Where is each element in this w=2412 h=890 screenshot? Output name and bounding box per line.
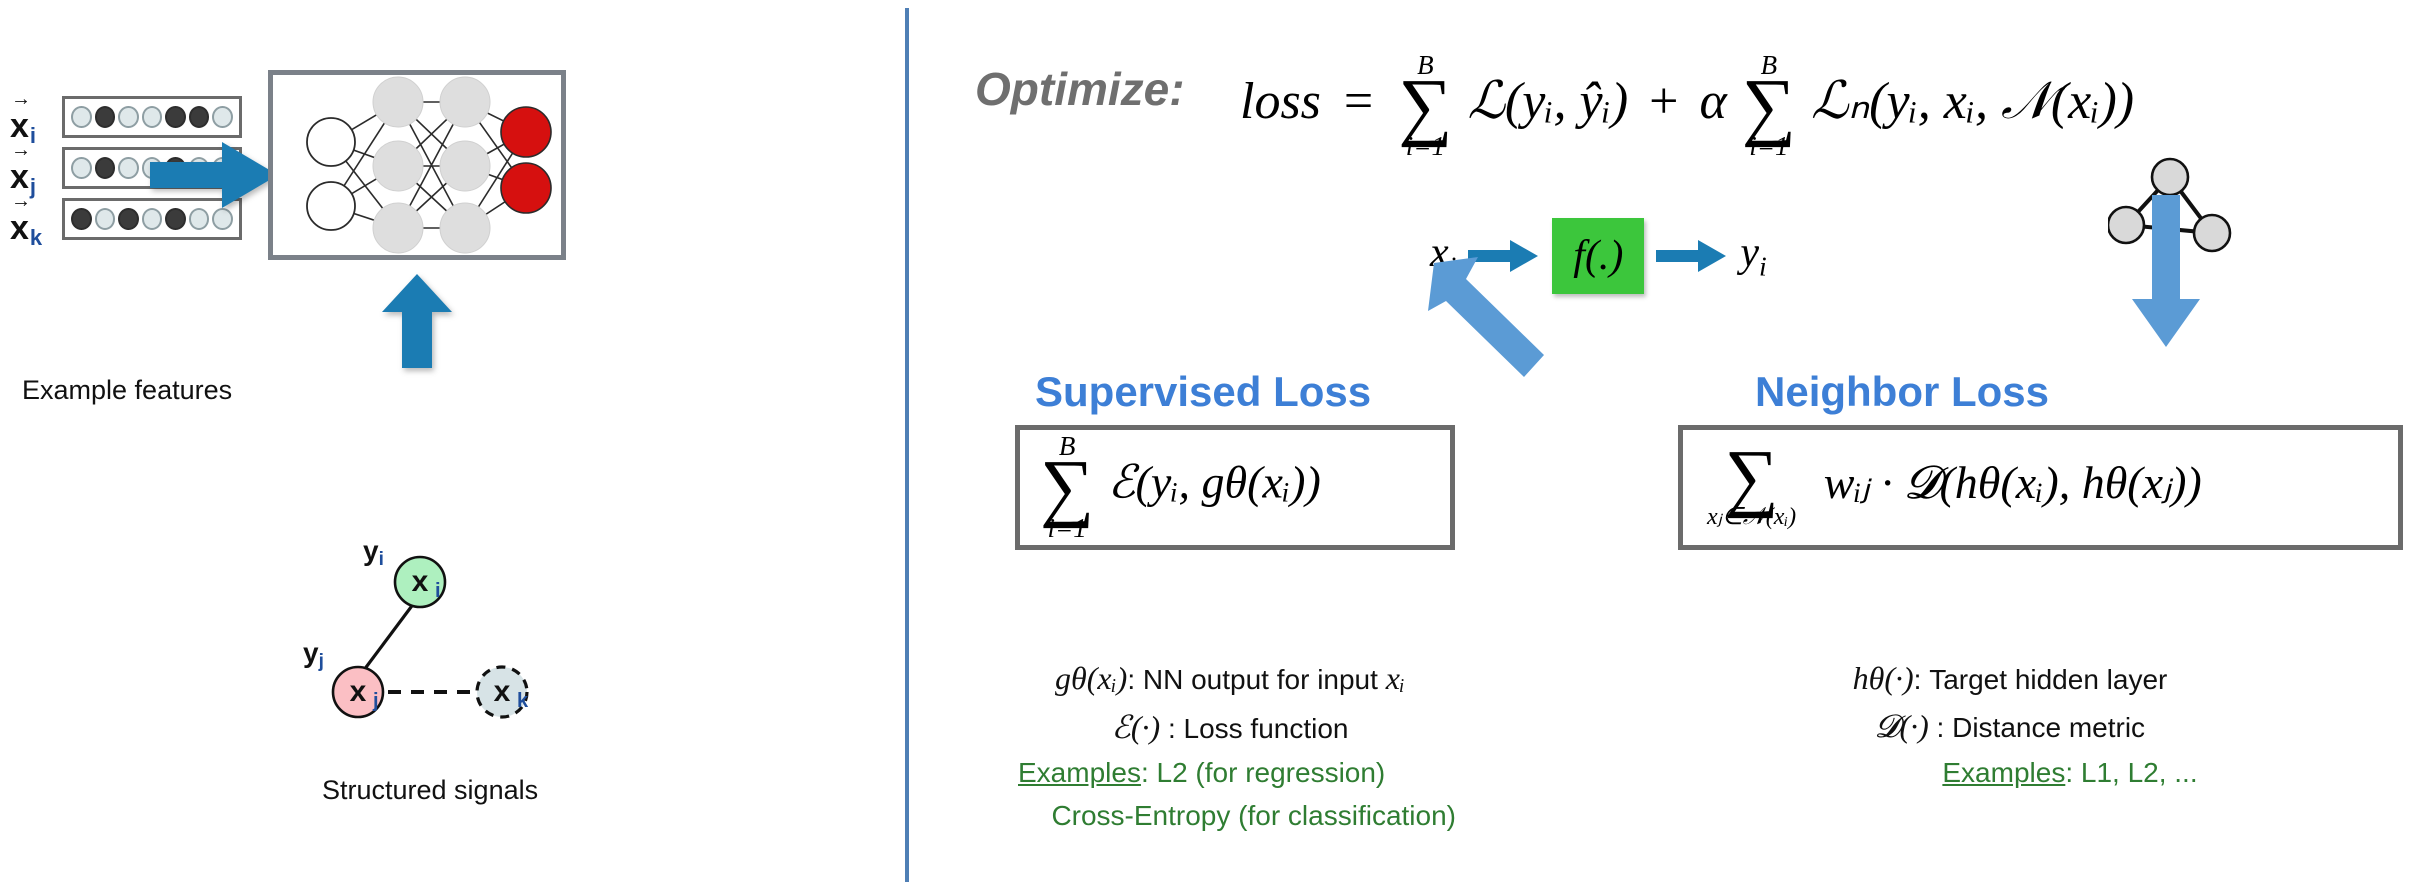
structured-signals-graph: x i x j x k (310, 520, 630, 770)
feature-dot (118, 106, 139, 128)
supervised-callout-arrow-icon (1420, 255, 1560, 385)
feature-vector-row-xi (62, 96, 242, 138)
supervised-loss-box: B ∑ i=1 ℰ(yᵢ, gθ(xᵢ)) (1015, 425, 1455, 550)
neighbor-examples-line-1: Examples: L1, L2, ... (1700, 757, 2320, 789)
panel-divider (905, 8, 909, 882)
eq-sum-2: B ∑ i=1 (1742, 52, 1796, 160)
supervised-examples-line-1: Examples: L2 (for regression) (1000, 757, 1460, 789)
feature-dot (189, 106, 210, 128)
vector-arrow-icon: → (11, 197, 42, 209)
eq-alpha: α (1699, 73, 1726, 130)
eq-term-2-body: ℒₙ(yᵢ, xᵢ, 𝒩(xᵢ)) (1811, 73, 2134, 130)
vector-arrow-icon: → (11, 95, 36, 107)
feature-dot (165, 208, 186, 230)
graph-node-xi-label: x (412, 565, 429, 598)
vector-subscript: k (30, 225, 42, 250)
feature-dot (71, 106, 92, 128)
eq-sum-1: B ∑ i=1 (1398, 52, 1452, 160)
graph-node-xj-sub: j (372, 690, 379, 712)
graph-label-yj: yj (303, 637, 324, 673)
feature-dot (118, 157, 139, 179)
neural-network-diagram (268, 70, 566, 260)
neighbor-callout-arrow-icon (2130, 195, 2202, 355)
function-box-label: f(.) (1573, 232, 1623, 280)
supervised-legend: gθ(xᵢ): NN output for input xᵢ ℰ(·) : Lo… (1000, 660, 1460, 843)
vector-arrow-icon: → (11, 146, 36, 158)
supervised-legend-line-2: ℰ(·) : Loss function (1000, 708, 1460, 746)
feature-dot (142, 208, 163, 230)
graph-edge-xi-xj (358, 595, 420, 678)
summation-icon: ∑ (1742, 75, 1796, 137)
supervised-legend-line-1: gθ(xᵢ): NN output for input xᵢ (1000, 660, 1460, 697)
eq-equals: = (1344, 73, 1373, 130)
pipeline-arrow-out-icon (1656, 238, 1728, 274)
feature-dot (71, 208, 92, 230)
graph-node-xj-label: x (350, 675, 367, 708)
graph-node-xi-sub: i (435, 580, 441, 602)
sup-body: ℰ(yᵢ, gθ(xᵢ)) (1108, 457, 1321, 508)
pipeline-output-label: yi (1740, 229, 1766, 282)
supervised-loss-equation: B ∑ i=1 ℰ(yᵢ, gθ(xᵢ)) (1020, 433, 1321, 541)
eq-term-1-body: ℒ(yᵢ, ŷᵢ) (1467, 73, 1628, 130)
eq-lhs: loss (1240, 73, 1321, 130)
feature-dot (142, 106, 163, 128)
neighbor-loss-box: ∑ xⱼ∈𝒩(xᵢ) wᵢⱼ · 𝓓(hθ(xᵢ), hθ(xⱼ)) (1678, 425, 2403, 550)
neighbor-legend-line-2: 𝓓(·) : Distance metric (1700, 708, 2320, 746)
nb-body: wᵢⱼ · 𝓓(hθ(xᵢ), hθ(xⱼ)) (1824, 457, 2202, 508)
main-loss-equation: loss = B ∑ i=1 ℒ(yᵢ, ŷᵢ) + α B ∑ i=1 ℒₙ(… (1240, 52, 2134, 160)
feature-dot (118, 208, 139, 230)
summation-icon: ∑ (1040, 456, 1094, 518)
neighbor-legend: hθ(·): Target hidden layer 𝓓(·) : Distan… (1700, 660, 2320, 800)
supervised-loss-title: Supervised Loss (1035, 368, 1371, 416)
eq-plus: + (1649, 73, 1678, 130)
sup-sum: B ∑ i=1 (1040, 433, 1094, 541)
graph-node-xk-label: x (494, 675, 511, 708)
nb-sum: ∑ xⱼ∈𝒩(xᵢ) (1707, 446, 1796, 528)
supervised-examples-line-2: Cross-Entropy (for classification) (1000, 800, 1460, 832)
summation-icon: ∑ (1398, 75, 1452, 137)
network-input-nodes (307, 118, 355, 230)
input-to-network-arrow-icon (150, 140, 280, 210)
structured-signals-caption: Structured signals (322, 775, 538, 806)
feature-dot (165, 106, 186, 128)
neighbor-loss-equation: ∑ xⱼ∈𝒩(xᵢ) wᵢⱼ · 𝓓(hθ(xᵢ), hθ(xⱼ)) (1683, 446, 2202, 528)
graph-label-yi: yi (363, 535, 384, 571)
vector-symbol: x (10, 209, 29, 247)
neighbor-legend-line-1: hθ(·): Target hidden layer (1700, 660, 2320, 697)
neighbor-loss-title: Neighbor Loss (1755, 368, 2049, 416)
vector-label-xk: →xk (10, 197, 42, 251)
feature-dot (95, 106, 116, 128)
summation-icon: ∑ (1707, 446, 1796, 508)
function-box: f(.) (1552, 218, 1644, 294)
feature-dot (71, 157, 92, 179)
feature-dot (212, 106, 233, 128)
feature-dot (95, 208, 116, 230)
graph-node-xk-sub: k (517, 690, 529, 712)
feature-dot (189, 208, 210, 230)
feature-dot (95, 157, 116, 179)
signals-to-network-arrow-icon (380, 272, 454, 370)
feature-dot (212, 208, 233, 230)
example-features-caption: Example features (22, 375, 232, 406)
triangle-node (2152, 159, 2188, 195)
optimize-label: Optimize: (975, 62, 1185, 116)
